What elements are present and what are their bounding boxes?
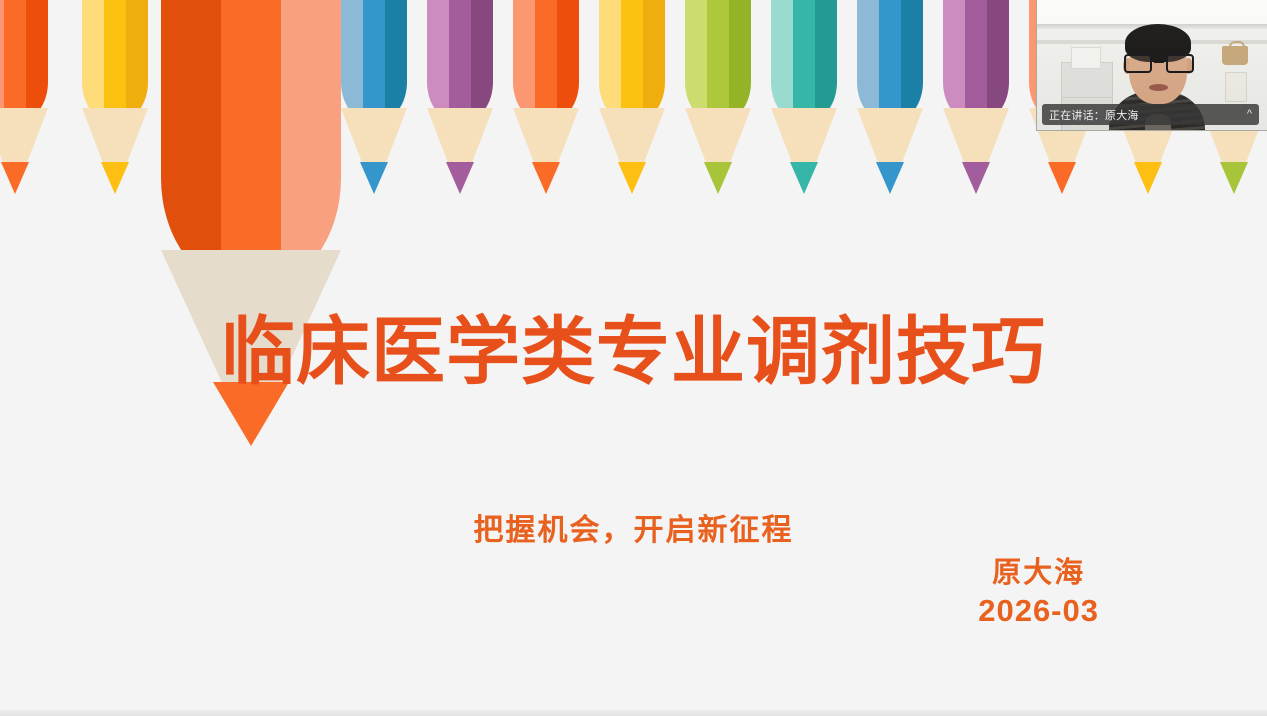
pencil-purple-1-lead	[446, 162, 474, 194]
pencil-orange-2-band-3	[557, 0, 579, 123]
pencil-hero-orange-band-1	[161, 0, 221, 290]
pencil-orange-1-barrel	[0, 0, 48, 123]
pencil-blue-1-band-3	[385, 0, 407, 123]
pencil-blue-1-band-2	[363, 0, 385, 123]
pencil-green-1	[685, 0, 751, 209]
pencil-purple-1-barrel	[427, 0, 493, 123]
pencil-blue-2	[857, 0, 923, 209]
pencil-purple-1-band-1	[427, 0, 449, 123]
pencil-green-1-band-3	[729, 0, 751, 123]
window-bottom-edge	[0, 710, 1267, 716]
pencil-yellow-3-lead	[1134, 162, 1162, 194]
pencil-yellow-1-band-1	[82, 0, 104, 123]
pencil-teal-1-band-3	[815, 0, 837, 123]
pencil-orange-1-band-3	[26, 0, 48, 123]
pencil-purple-2-band-1	[943, 0, 965, 123]
pencil-teal-1-band-2	[793, 0, 815, 123]
pencil-orange-1-wood-tip	[0, 108, 48, 194]
pencil-purple-2-band-3	[987, 0, 1009, 123]
pencil-orange-3-lead	[1048, 162, 1076, 194]
pencil-purple-2-lead	[962, 162, 990, 194]
pencil-yellow-2-band-1	[599, 0, 621, 123]
pencil-orange-2-band-2	[535, 0, 557, 123]
pencil-yellow-2-band-2	[621, 0, 643, 123]
pencil-teal-1-lead	[790, 162, 818, 194]
presenter-name: 原大海	[978, 556, 1099, 592]
slide-subtitle: 把握机会，开启新征程	[0, 505, 1267, 549]
screen-share-stage: 临床医学类专业调剂技巧 把握机会，开启新征程 原大海 2026-03	[0, 0, 1267, 716]
pencil-blue-1-barrel	[341, 0, 407, 123]
pencil-orange-1-lead	[1, 162, 29, 194]
pencil-green-1-barrel	[685, 0, 751, 123]
pencil-yellow-1-barrel	[82, 0, 148, 123]
pencil-orange-2-barrel	[513, 0, 579, 123]
pencil-purple-2-band-2	[965, 0, 987, 123]
pencil-yellow-1	[82, 0, 148, 209]
pencil-orange-2-lead	[532, 162, 560, 194]
slide-byline: 原大海 2026-03	[978, 556, 1099, 630]
pencil-orange-2	[513, 0, 579, 209]
pencil-hero-orange-band-3	[281, 0, 341, 290]
presentation-date: 2026-03	[978, 592, 1099, 630]
pencil-teal-1	[771, 0, 837, 209]
pencil-blue-2-band-3	[901, 0, 923, 123]
pencil-hero-orange	[161, 0, 341, 486]
pencil-green-1-band-1	[685, 0, 707, 123]
pencil-yellow-2-barrel	[599, 0, 665, 123]
pencil-yellow-2-band-3	[643, 0, 665, 123]
pencil-green-1-lead	[704, 162, 732, 194]
pencil-yellow-2-lead	[618, 162, 646, 194]
pencil-orange-1	[0, 0, 48, 209]
pencil-blue-2-barrel	[857, 0, 923, 123]
active-speaker-bar[interactable]: 正在讲话：原大海 ^	[1042, 104, 1259, 125]
active-speaker-label: 正在讲话：原大海	[1049, 107, 1241, 123]
pencil-green-1-band-2	[707, 0, 729, 123]
pencil-purple-1	[427, 0, 493, 209]
pencil-orange-1-band-2	[4, 0, 26, 123]
pencil-blue-2-band-2	[879, 0, 901, 123]
pencil-teal-1-barrel	[771, 0, 837, 123]
slide-title: 临床医学类专业调剂技巧	[0, 313, 1267, 391]
pencil-green-2-lead	[1220, 162, 1248, 194]
pencil-blue-1-band-1	[341, 0, 363, 123]
pencil-blue-1-lead	[360, 162, 388, 194]
pencil-purple-1-band-3	[471, 0, 493, 123]
pencil-yellow-1-band-3	[126, 0, 148, 123]
pencil-yellow-1-band-2	[104, 0, 126, 123]
pencil-yellow-2	[599, 0, 665, 209]
pencil-orange-2-band-1	[513, 0, 535, 123]
pencil-hero-orange-band-2	[221, 0, 281, 290]
pencil-hero-orange-barrel	[161, 0, 341, 290]
webcam-video-panel[interactable]: 正在讲话：原大海 ^	[1036, 0, 1267, 131]
pencil-purple-2	[943, 0, 1009, 209]
pencil-yellow-1-lead	[101, 162, 129, 194]
pencil-teal-1-band-1	[771, 0, 793, 123]
pencil-blue-2-lead	[876, 162, 904, 194]
pencil-blue-1	[341, 0, 407, 209]
chevron-up-icon[interactable]: ^	[1241, 109, 1252, 120]
pencil-purple-2-barrel	[943, 0, 1009, 123]
pencil-blue-2-band-1	[857, 0, 879, 123]
pencil-purple-1-band-2	[449, 0, 471, 123]
